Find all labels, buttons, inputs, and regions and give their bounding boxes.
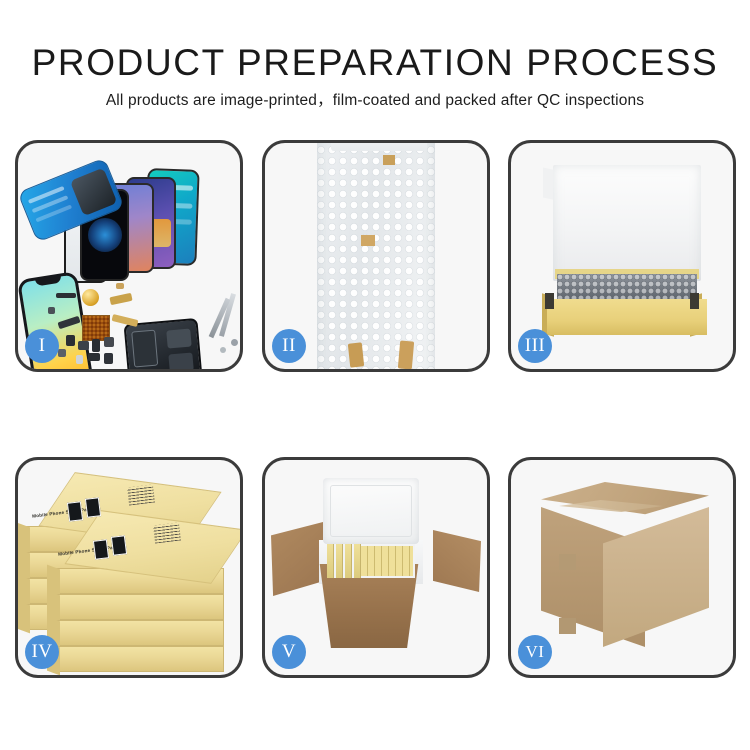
step-card-6: VI (508, 457, 736, 678)
bubble-wrap-contents-icon (557, 274, 697, 300)
box-artwork-phone-icon (111, 535, 127, 556)
sealed-carton (541, 482, 709, 652)
tape-tab-icon (348, 342, 364, 367)
box-artwork-phone-icon (67, 501, 83, 522)
step-card-1: I (15, 140, 243, 372)
box-artwork-phone-icon (93, 539, 109, 560)
step-badge-6: VI (518, 635, 552, 669)
step-card-5: V (262, 457, 490, 678)
box-layer (56, 620, 224, 646)
process-step-grid: I II (0, 120, 750, 690)
box-front-icon (547, 299, 707, 335)
battery-connector-icon (56, 293, 76, 298)
page-title: PRODUCT PREPARATION PROCESS (0, 42, 750, 84)
step-badge-2: II (272, 329, 306, 363)
flex-cable-1-icon (109, 293, 132, 305)
product-preparation-infographic: PRODUCT PREPARATION PROCESS All products… (0, 0, 750, 750)
screw-icon (231, 339, 238, 346)
small-part-icon (78, 341, 89, 350)
carton-tape-icon (559, 554, 576, 570)
small-part-icon (48, 307, 55, 314)
screw-icon (220, 347, 226, 353)
step-badge-3: III (518, 329, 552, 363)
carton-tape-icon (559, 618, 576, 634)
box-spec-lines-icon (153, 522, 181, 543)
speaker-module-icon (82, 289, 99, 306)
small-part-icon (104, 353, 113, 364)
carton-flap-right-icon (433, 530, 481, 592)
small-part-icon (116, 283, 124, 289)
small-part-icon (66, 335, 75, 346)
boxes-inside-icon (327, 544, 415, 578)
box-spec-lines-icon (127, 484, 155, 505)
step-badge-1: I (25, 329, 59, 363)
small-part-icon (76, 355, 83, 364)
step-card-2: II (262, 140, 490, 372)
tape-tab-icon (398, 340, 414, 369)
small-part-icon (88, 353, 100, 361)
header: PRODUCT PREPARATION PROCESS All products… (0, 0, 750, 120)
tweezers-icon (194, 293, 234, 349)
small-part-icon (58, 349, 66, 357)
box-layer (56, 646, 224, 672)
step-badge-5: V (272, 635, 306, 669)
tape-tab-icon (383, 155, 395, 165)
carton-flap-left-icon (271, 522, 323, 596)
box-corner-right-icon (690, 293, 699, 309)
foam-lid-icon (553, 165, 701, 281)
bag-seal-icon (331, 143, 427, 151)
carton-right-face-icon (603, 507, 709, 647)
step-card-3: III (508, 140, 736, 372)
box-artwork-phone-icon (85, 497, 101, 518)
small-part-icon (104, 337, 114, 347)
small-part-icon (92, 339, 100, 352)
tape-tab-icon (361, 235, 375, 246)
box-layer (56, 594, 224, 620)
bubble-wrap-icon (317, 143, 435, 369)
box-corner-left-icon (545, 293, 554, 309)
step-badge-4: IV (25, 635, 59, 669)
step-card-4: Mobile Phone Spare Parts Mobile Phone Sp… (15, 457, 243, 678)
page-subtitle: All products are image-printed，film-coat… (0, 88, 750, 110)
foam-lid-icon (323, 478, 419, 544)
